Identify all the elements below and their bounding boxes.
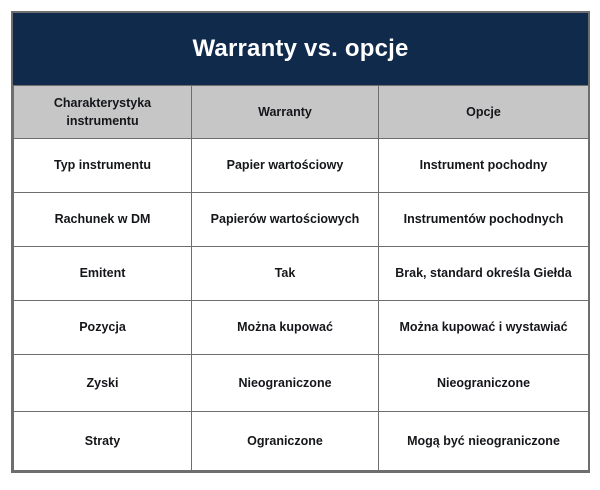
cell-opcje: Instrument pochodny [379,139,589,193]
cell-warranty: Papierów wartościowych [192,193,379,247]
cell-warranty: Można kupować [192,301,379,355]
table-row: Zyski Nieograniczone Nieograniczone [14,355,589,412]
column-header-warranty: Warranty [192,86,379,139]
cell-warranty: Ograniczone [192,412,379,471]
page-title: Warranty vs. opcje [192,36,408,62]
cell-feature: Emitent [14,247,192,301]
cell-feature: Zyski [14,355,192,412]
table-row: Pozycja Można kupować Można kupować i wy… [14,301,589,355]
cell-feature: Typ instrumentu [14,139,192,193]
cell-feature: Rachunek w DM [14,193,192,247]
cell-feature: Straty [14,412,192,471]
table-head: Charakterystyka instrumentu Warranty Opc… [14,86,589,139]
cell-feature: Pozycja [14,301,192,355]
cell-opcje: Instrumentów pochodnych [379,193,589,247]
column-header-opcje: Opcje [379,86,589,139]
cell-warranty: Nieograniczone [192,355,379,412]
table-title-bar: Warranty vs. opcje [13,13,588,85]
column-header-feature: Charakterystyka instrumentu [14,86,192,139]
table-row: Emitent Tak Brak, standard określa Giełd… [14,247,589,301]
table-header-row: Charakterystyka instrumentu Warranty Opc… [14,86,589,139]
cell-opcje: Można kupować i wystawiać [379,301,589,355]
page-root: Warranty vs. opcje Charakterystyka instr… [0,0,600,490]
comparison-table-container: Warranty vs. opcje Charakterystyka instr… [11,11,590,473]
cell-warranty: Tak [192,247,379,301]
cell-warranty: Papier wartościowy [192,139,379,193]
table-row: Rachunek w DM Papierów wartościowych Ins… [14,193,589,247]
table-body: Typ instrumentu Papier wartościowy Instr… [14,139,589,471]
comparison-table: Charakterystyka instrumentu Warranty Opc… [13,85,589,471]
cell-opcje: Brak, standard określa Giełda [379,247,589,301]
cell-opcje: Mogą być nieograniczone [379,412,589,471]
table-row: Typ instrumentu Papier wartościowy Instr… [14,139,589,193]
table-row: Straty Ograniczone Mogą być nieograniczo… [14,412,589,471]
cell-opcje: Nieograniczone [379,355,589,412]
